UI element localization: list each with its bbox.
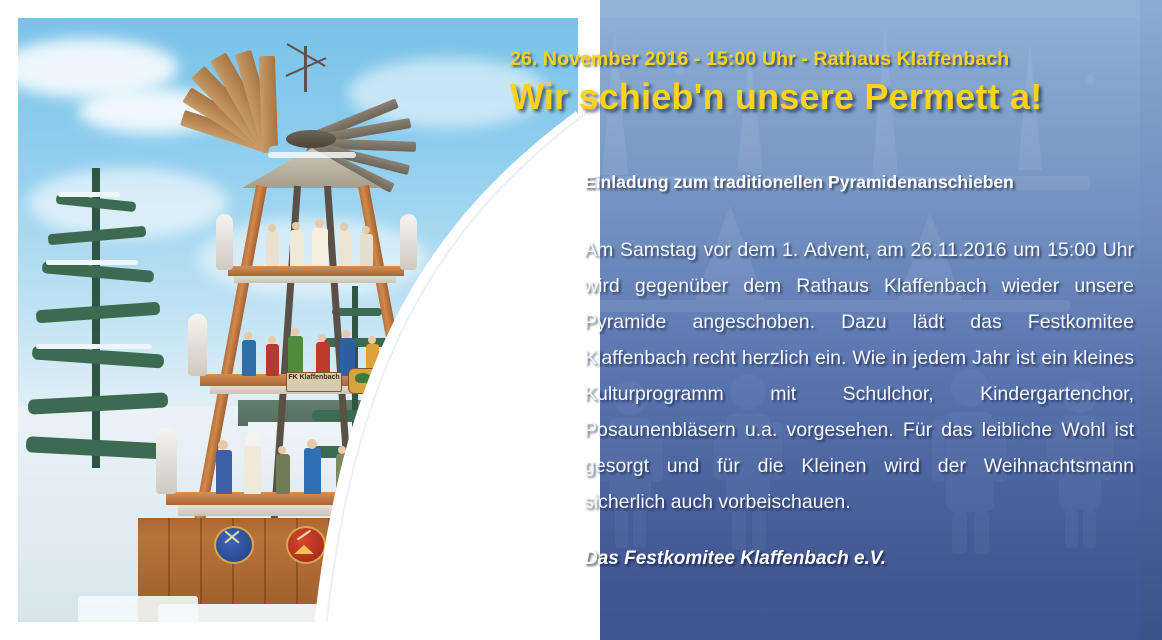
figure-head [368,336,376,344]
angel-figure [290,230,304,266]
pyramid-knob [400,214,417,270]
crest-red [286,526,326,564]
angel-figure [266,232,279,266]
miner-cap [364,434,381,440]
christmas-pyramid: FK Klaffenbach [18,18,578,622]
subheading: Einladung zum traditionellen Pyramidenan… [584,172,1140,193]
figure-head [292,222,300,230]
angel-figure [338,231,352,266]
figure [336,454,350,494]
figure-head [338,446,346,454]
figure-head [268,224,276,232]
angel-figure [360,234,373,266]
body-paragraph: Am Samstag vor dem 1. Advent, am 26.11.2… [584,232,1134,520]
pyramid-knob [452,428,473,494]
figure-head [315,219,324,228]
villager-figure [266,344,279,376]
figure-head [340,223,348,231]
crest-blue [214,526,254,564]
figure-head [291,328,299,336]
rotor-blade [259,56,278,147]
crest-yellow [362,526,402,564]
pyramid-knob [156,428,177,494]
figure [216,450,232,494]
villager-figure [316,342,330,376]
fence-post [542,458,549,518]
roof-snow [268,152,356,158]
page-title: Wir schieb'n unsere Permett a! [510,76,1140,118]
pyramid-deck-3 [178,504,450,516]
foreground-snow [78,596,198,622]
figure [304,448,321,494]
fence-post [488,448,495,514]
baker-hat [245,434,259,445]
rotor-hub [286,130,336,148]
villager-figure [242,340,256,376]
pyramid-knob [426,314,445,376]
pyramid-knob [188,314,207,376]
figure-head [244,332,252,340]
club-emblem [348,368,378,394]
bare-shrub [470,420,560,510]
event-poster: FK Klaffenbach [0,0,1162,640]
figure-head [278,446,286,454]
figure-head [366,437,376,447]
figure-head [342,330,350,338]
figure-head [318,334,326,342]
figure-head [307,439,317,449]
figure-head [268,336,276,344]
miner-figure [364,446,381,494]
pyramid-beam-1 [228,266,404,276]
figure-head [362,226,370,234]
figure-head [218,440,228,450]
baker-figure [244,446,261,494]
figure [276,454,290,494]
fir-tree [448,318,534,488]
event-dateline: 26. November 2016 - 15:00 Uhr - Rathaus … [510,48,1140,71]
villager-figure [288,336,303,376]
angel-figure [312,228,328,266]
signature-line: Das Festkomitee Klaffenbach e.V. [584,548,1140,570]
pyramid-knob [216,214,233,270]
foreground-snow [158,604,488,622]
right-edge-strip [1140,0,1162,640]
club-sign: FK Klaffenbach [286,372,342,392]
photo-clip-frame: FK Klaffenbach [18,18,578,622]
headline-block: 26. November 2016 - 15:00 Uhr - Rathaus … [510,48,1140,118]
